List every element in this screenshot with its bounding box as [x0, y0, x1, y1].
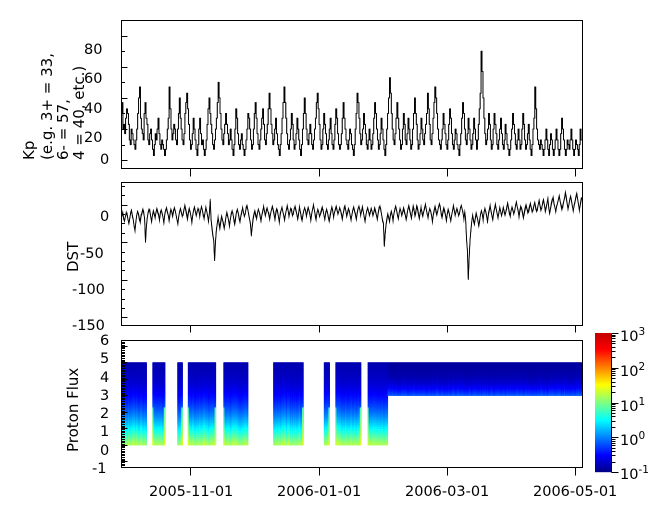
- xaxis-tick-2006-05-01: 2006-05-01: [533, 484, 617, 500]
- flux-axis-label: Proton Flux: [64, 368, 82, 452]
- flux-tick-2: 2: [100, 406, 109, 422]
- flux-tick-1: 1: [100, 424, 109, 440]
- dst-tick-n50: -50: [80, 246, 104, 262]
- xaxis-tick-2006-03-01: 2006-03-01: [405, 484, 489, 500]
- dst-tick-0: 0: [100, 209, 109, 225]
- kp-tick-40: 40: [84, 101, 102, 117]
- flux-tick-4: 4: [100, 370, 109, 386]
- kp-axis-label: Kp: [20, 141, 38, 160]
- dst-plot-area[interactable]: [121, 182, 582, 325]
- flux-tick-0: 0: [100, 443, 109, 459]
- colorbar[interactable]: [595, 333, 612, 472]
- flux-tick-6: 6: [100, 333, 109, 349]
- kp-axis-label-line1: Kp: [20, 141, 38, 160]
- colorbar-tick-1e3: 103: [620, 326, 645, 345]
- flux-tick-3: 3: [100, 388, 109, 404]
- colorbar-tick-1e0: 100: [620, 430, 645, 449]
- xaxis-tick-2005-11-01: 2005-11-01: [149, 484, 233, 500]
- dst-tick-n100: -100: [72, 282, 105, 298]
- flux-tick-5: 5: [100, 351, 109, 367]
- kp-tick-60: 60: [84, 71, 102, 87]
- kp-tick-0: 0: [100, 152, 109, 168]
- figure-root: Kp (e.g. 3+ = 33, 6- = 57, 4 = 40, etc.)…: [0, 0, 665, 523]
- proton-flux-plot-area[interactable]: [121, 340, 582, 467]
- colorbar-tick-1em1: 10-1: [620, 464, 649, 483]
- dst-tick-n150: -150: [72, 318, 105, 334]
- xaxis-tick-2006-01-01: 2006-01-01: [277, 484, 361, 500]
- kp-tick-80: 80: [84, 42, 102, 58]
- flux-tick-n1: -1: [92, 461, 106, 477]
- kp-plot-area[interactable]: [121, 20, 582, 168]
- colorbar-tick-1e2: 102: [620, 361, 645, 380]
- kp-tick-20: 20: [84, 130, 102, 146]
- colorbar-tick-1e1: 101: [620, 396, 645, 415]
